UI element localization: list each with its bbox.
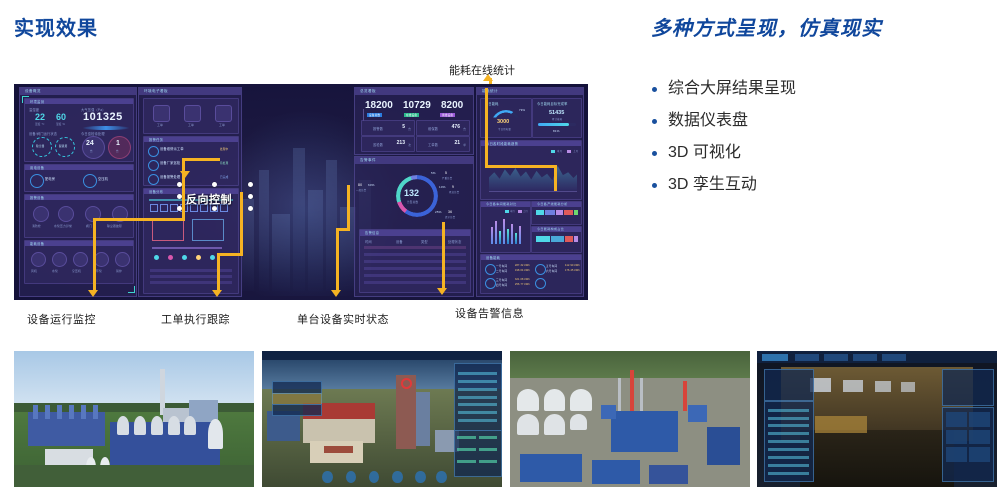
list-item: 综合大屏结果呈现 — [652, 78, 982, 100]
scene-window-2 — [875, 381, 892, 392]
device-item: 三号车间 — [496, 278, 507, 282]
scene-left-panel-list — [764, 401, 814, 482]
scene-equipment — [815, 416, 868, 432]
stat-value: 21 — [454, 140, 460, 146]
donut-label-0: 一般告警 — [356, 188, 366, 192]
photo-digital-twin-cement-plant — [262, 351, 502, 487]
arrow-down-4 — [437, 288, 447, 295]
task-icon-0 — [148, 146, 159, 157]
workorder-icon-0 — [153, 105, 170, 122]
rate-value-label: 累计能耗 — [552, 117, 562, 121]
bar-series — [490, 216, 526, 244]
photo-aerial-refinery-render — [510, 351, 750, 487]
donut-pct-3: 25% — [435, 210, 442, 214]
donut-center-value: 132 — [404, 188, 419, 198]
feature-bullet-list: 综合大屏结果呈现 数据仪表盘 3D 可视化 3D 孪生互动 — [652, 78, 982, 206]
arrow-down-2 — [212, 290, 222, 297]
pressure-value: 101325 — [83, 111, 123, 123]
route-energy-horizontal — [485, 165, 557, 168]
route-bottom-1-horizontal — [93, 218, 185, 221]
panel-title: 环境电子看板 — [144, 89, 168, 94]
task-icon-2 — [148, 174, 159, 185]
card-title: 报警任务 — [149, 137, 163, 142]
scene-right-radar — [942, 369, 994, 406]
photo-plant-3d-render — [14, 351, 254, 487]
bullet-dot-icon — [652, 151, 657, 156]
device-item: 四号车间 — [496, 283, 507, 287]
donut-value-0: 80 — [358, 183, 362, 187]
trend-legend-0: 本月 — [557, 149, 562, 153]
util-icon-a — [30, 174, 44, 188]
scene-window-3 — [901, 382, 915, 392]
scene-right-grid — [942, 407, 994, 482]
workorder-icon-2 — [215, 105, 232, 122]
device-item: 六号车间 — [546, 269, 557, 273]
donut-pct-2: 10% — [439, 185, 446, 189]
col-header: 处理状态 — [448, 239, 462, 244]
page-title-right: 多种方式呈现，仿真现实 — [651, 12, 882, 41]
route-bottom-3-vertical — [336, 230, 339, 292]
humidity-value: 60 — [56, 112, 66, 122]
stat-unit: 台 — [463, 127, 466, 131]
stat-cell-1: 维保数 476 台 — [416, 120, 470, 136]
ring-label-b: 脱硫塔 — [59, 144, 67, 148]
card-title: 环境监测 — [30, 99, 44, 104]
stat-label: 报警数 — [373, 126, 383, 131]
alarm-item: 水泵压力异常 — [54, 224, 72, 228]
card-title: 能耗设备 — [30, 241, 44, 246]
device-icon-0 — [485, 264, 496, 275]
card-trend-chart: 今日各时段能耗趋势 本月 上月 — [480, 140, 582, 200]
task-icon-1 — [148, 160, 159, 171]
card-energy-devices: 能耗设备 风机 水泵 空压机 循环泵 锅炉 — [24, 240, 134, 284]
energy-item: 风机 — [31, 269, 37, 273]
energy-icon-2 — [73, 252, 88, 267]
card-heatmap-lines: 今日各产线能耗分析 — [531, 201, 582, 225]
donut-label-1: 严重告警 — [442, 176, 452, 180]
bullet-label: 3D 孪生互动 — [668, 174, 757, 196]
caption-device-realtime-status: 单台设备实时状态 — [297, 311, 389, 327]
kpi-label-0: 设备总数 — [367, 113, 382, 117]
stat-unit: 单 — [463, 143, 466, 147]
bullet-dot-icon — [652, 183, 657, 188]
twin-bottom-nav[interactable] — [320, 471, 450, 483]
rate-pct: 81% — [553, 129, 560, 133]
twin-right-stats — [454, 430, 502, 477]
scene-window-1 — [843, 380, 862, 392]
task-status: 待处理 — [220, 161, 228, 165]
bullet-dot-icon — [652, 87, 657, 92]
resize-handle-tl[interactable] — [177, 182, 182, 187]
humidity-unit: 湿度 % — [56, 122, 65, 126]
device-value: 198.64 kWh — [515, 269, 530, 272]
device-value: 256.77 kWh — [515, 283, 530, 286]
device-item: 二号车间 — [496, 269, 507, 273]
device-icon-3 — [535, 278, 546, 289]
list-item: 数据仪表盘 — [652, 110, 982, 132]
arrow-down-3 — [331, 290, 341, 297]
card-heatmap-ratio: 今日能耗构成占比 — [531, 226, 582, 253]
gauge-value-label: 今日用电量 — [498, 127, 511, 131]
panel-energy-statistics: 能耗统计 今日能耗 3000 今日用电量 79% 今日能耗目标完成率 51435… — [476, 87, 584, 297]
resize-handle-ml[interactable] — [177, 194, 182, 199]
count-a-unit: 台 — [90, 149, 93, 153]
arrow-down-reverse-control — [180, 171, 190, 178]
energy-item: 水泵 — [52, 269, 58, 273]
bar-legend-0: 本月 — [510, 209, 515, 213]
card-device-energy: 设备能耗 一号车间 二号车间 287.32 kWh 198.64 kWh 三号车… — [480, 254, 582, 294]
card-title: 报警设备 — [30, 195, 44, 200]
workorder-label: 工单 — [188, 123, 194, 127]
panel-alarm-events: 告警事件 132 告警总数 60% 80 一般告警 5% 5 严重告警 10% … — [354, 156, 474, 297]
donut-value-2: 9 — [452, 185, 454, 189]
donut-pct-1: 5% — [431, 171, 436, 175]
chart-title: 今日各产线能耗分析 — [537, 202, 568, 206]
util-label-b: 空压机 — [98, 176, 108, 181]
energy-item: 空压机 — [72, 269, 81, 273]
route-bottom-3-riser — [347, 185, 350, 230]
donut-value-1: 5 — [445, 171, 447, 175]
chart-title: 今日各时段能耗趋势 — [486, 141, 518, 146]
card-utility: 用电设备 配电房 空压机 — [24, 164, 134, 192]
rate-value: 51435 — [549, 110, 564, 116]
overlay-label-reverse-control: 反向控制 — [186, 191, 232, 207]
bullet-label: 数据仪表盘 — [668, 110, 748, 132]
bullet-label: 综合大屏结果呈现 — [668, 78, 796, 100]
kpi-value-0: 18200 — [365, 100, 393, 111]
ring-group-label: 设备/阀门运行状态 — [29, 131, 57, 136]
callout-label-energy: 能耗在线统计 — [449, 62, 515, 78]
stat-label: 巡检数 — [373, 142, 383, 147]
stat-unit: 台 — [408, 127, 411, 131]
panel-kpi-overview: 总览看板 18200 设备总数 10729 在线设备 8200 离线设备 报警数… — [354, 87, 474, 155]
kpi-label-1: 在线设备 — [404, 113, 419, 117]
col-header: 类型 — [421, 239, 428, 244]
card-environment: 环境监测 温湿度 大气压强（Pa） 22 温度 ℃ 60 湿度 % 101325… — [24, 98, 134, 162]
route-bottom-4-vertical — [442, 222, 445, 290]
arrow-down-1 — [88, 290, 98, 297]
task-status: 处理中 — [220, 147, 228, 151]
panel-title: 告警事件 — [360, 158, 376, 163]
caption-workorder-tracking: 工单执行跟踪 — [161, 311, 230, 327]
device-item: 一号车间 — [496, 264, 507, 268]
temperature-value: 22 — [35, 112, 45, 122]
device-value: 176.45 kWh — [565, 269, 580, 272]
kpi-value-2: 8200 — [441, 100, 463, 111]
device-value: 321.08 kWh — [515, 278, 530, 281]
ring-label-a: 除尘器 — [36, 144, 44, 148]
alarm-item: 消防栓 — [32, 224, 41, 228]
route-bottom-1-vertical — [93, 220, 96, 292]
task-row: 设备维修派工单 — [160, 146, 184, 151]
donut-center-label: 告警总数 — [407, 200, 418, 204]
col-header: 时间 — [365, 239, 372, 244]
energy-icon-1 — [52, 252, 67, 267]
energy-icon-4 — [115, 252, 130, 267]
card-bar-chart: 今日各车间能耗对比 本月 上月 — [480, 201, 531, 253]
device-item: 五号车间 — [546, 264, 557, 268]
card-completion-rate: 今日能耗目标完成率 51435 累计能耗 81% — [532, 98, 582, 138]
energy-item: 锅炉 — [116, 269, 122, 273]
resize-handle-mr[interactable] — [248, 194, 253, 199]
scene-topbar — [757, 351, 997, 363]
donut-label-2: 紧急告警 — [449, 190, 459, 194]
alarm-item: 除尘器故障 — [107, 224, 122, 228]
donut-pct-0: 60% — [368, 183, 375, 187]
card-tasklist: 报警任务 设备维修派工单 处理中 设备厂家巡检 待处理 设备报警处理 已完成 — [143, 136, 239, 186]
temperature-unit: 温度 ℃ — [35, 122, 45, 126]
stat-value: 213 — [397, 140, 405, 146]
rate-title: 今日能耗目标完成率 — [537, 101, 568, 106]
route-bottom-2-vertical — [217, 255, 220, 292]
resize-handle-bl[interactable] — [177, 206, 182, 211]
page-title-left: 实现效果 — [14, 12, 98, 41]
card-title: 设备能耗 — [486, 255, 500, 260]
panel-device-overview: 设备概览 环境监测 温湿度 大气压强（Pa） 22 温度 ℃ 60 湿度 % 1… — [19, 87, 137, 297]
chart-title: 今日各车间能耗对比 — [486, 202, 517, 206]
pressure-glow — [83, 126, 129, 130]
chart-title: 今日能耗构成占比 — [537, 227, 564, 231]
alarm-icon-0 — [33, 206, 49, 222]
twin-topbar — [262, 351, 502, 360]
stat-unit: 次 — [408, 143, 411, 147]
count-a-value: 24 — [86, 140, 94, 147]
panel-title: 总览看板 — [360, 89, 376, 94]
resize-handle-br[interactable] — [248, 206, 253, 211]
task-row: 设备厂家巡检 — [160, 160, 180, 165]
util-label-a: 配电房 — [45, 176, 55, 181]
donut-value-3: 36 — [448, 210, 452, 214]
card-title: 用电设备 — [30, 165, 44, 170]
device-icon-1 — [485, 278, 496, 289]
table-title: 告警信息 — [365, 230, 379, 235]
bullet-label: 3D 可视化 — [668, 142, 741, 164]
caption-device-monitoring: 设备运行监控 — [27, 311, 96, 327]
card-alarm-devices: 报警设备 消防栓 水泵压力异常 阀门 除尘器故障 — [24, 194, 134, 238]
twin-menu-item-0[interactable] — [272, 381, 322, 394]
bullet-dot-icon — [652, 119, 657, 124]
route-bottom-1-top — [182, 158, 220, 161]
task-row: 设备报警处理 — [160, 174, 180, 179]
stat-cell-2: 巡检数 213 次 — [361, 136, 415, 152]
col-header: 设备 — [396, 239, 403, 244]
workorder-icon-1 — [184, 105, 201, 122]
energy-icon-3 — [94, 252, 109, 267]
donut-label-3: 提示告警 — [445, 215, 455, 219]
device-value: 287.32 kWh — [515, 264, 530, 267]
trend-area-series — [489, 155, 577, 191]
device-icon-2 — [535, 264, 546, 275]
stat-value: 476 — [452, 124, 460, 130]
resize-handle-tc[interactable] — [212, 182, 217, 187]
route-energy-drop — [554, 165, 557, 191]
dashboard-screenshot: 设备概览 环境监测 温湿度 大气压强（Pa） 22 温度 ℃ 60 湿度 % 1… — [14, 84, 588, 300]
stat-label: 工单数 — [428, 142, 438, 147]
device-value: 412.90 kWh — [565, 264, 580, 267]
card-workorders: 工单 工单 工单 — [143, 98, 239, 134]
util-icon-b — [83, 174, 97, 188]
stat-label: 维保数 — [428, 126, 438, 131]
kpi-label-2: 离线设备 — [440, 113, 455, 117]
panel-title: 设备概览 — [25, 89, 41, 94]
kpi-value-1: 10729 — [403, 100, 431, 111]
alarm-icon-1 — [58, 206, 74, 222]
stat-cell-0: 报警数 5 台 — [361, 120, 415, 136]
task-status: 已完成 — [220, 175, 228, 179]
rate-progress-track — [538, 123, 576, 126]
card-title: 设备分布 — [149, 189, 163, 194]
count-b-unit: 台 — [116, 149, 119, 153]
gauge-value: 3000 — [497, 119, 509, 125]
list-item: 3D 可视化 — [652, 142, 982, 164]
stat-value: 5 — [402, 124, 405, 130]
photo-indoor-3d-monitoring-scene — [757, 351, 997, 487]
alarm-item: 阀门 — [86, 224, 92, 228]
resize-handle-tr[interactable] — [248, 182, 253, 187]
alarm-table: 告警信息 时间 设备 类型 处理状态 — [359, 229, 471, 293]
workorder-label: 工单 — [157, 123, 163, 127]
slide-root: 实现效果 多种方式呈现，仿真现实 综合大屏结果呈现 数据仪表盘 3D 可视化 3… — [0, 0, 1000, 498]
stat-cell-3: 工单数 21 单 — [416, 136, 470, 152]
caption-device-alarm-info: 设备告警信息 — [455, 305, 524, 321]
twin-right-panel — [454, 363, 502, 430]
gauge-pct: 79% — [519, 108, 525, 112]
scene-floor — [800, 430, 954, 487]
twin-menu-item-1[interactable] — [272, 393, 322, 405]
scene-left-panel-top — [764, 369, 814, 401]
twin-menu-item-2[interactable] — [272, 404, 322, 416]
trend-legend-1: 上月 — [573, 149, 578, 153]
arrow-up-energy — [483, 74, 493, 81]
count-b-value: 1 — [116, 140, 120, 147]
list-item: 3D 孪生互动 — [652, 174, 982, 196]
bar-legend-1: 上月 — [523, 209, 528, 213]
route-energy-vertical — [485, 88, 488, 168]
workorder-label: 工单 — [219, 123, 225, 127]
energy-icon-0 — [31, 252, 46, 267]
